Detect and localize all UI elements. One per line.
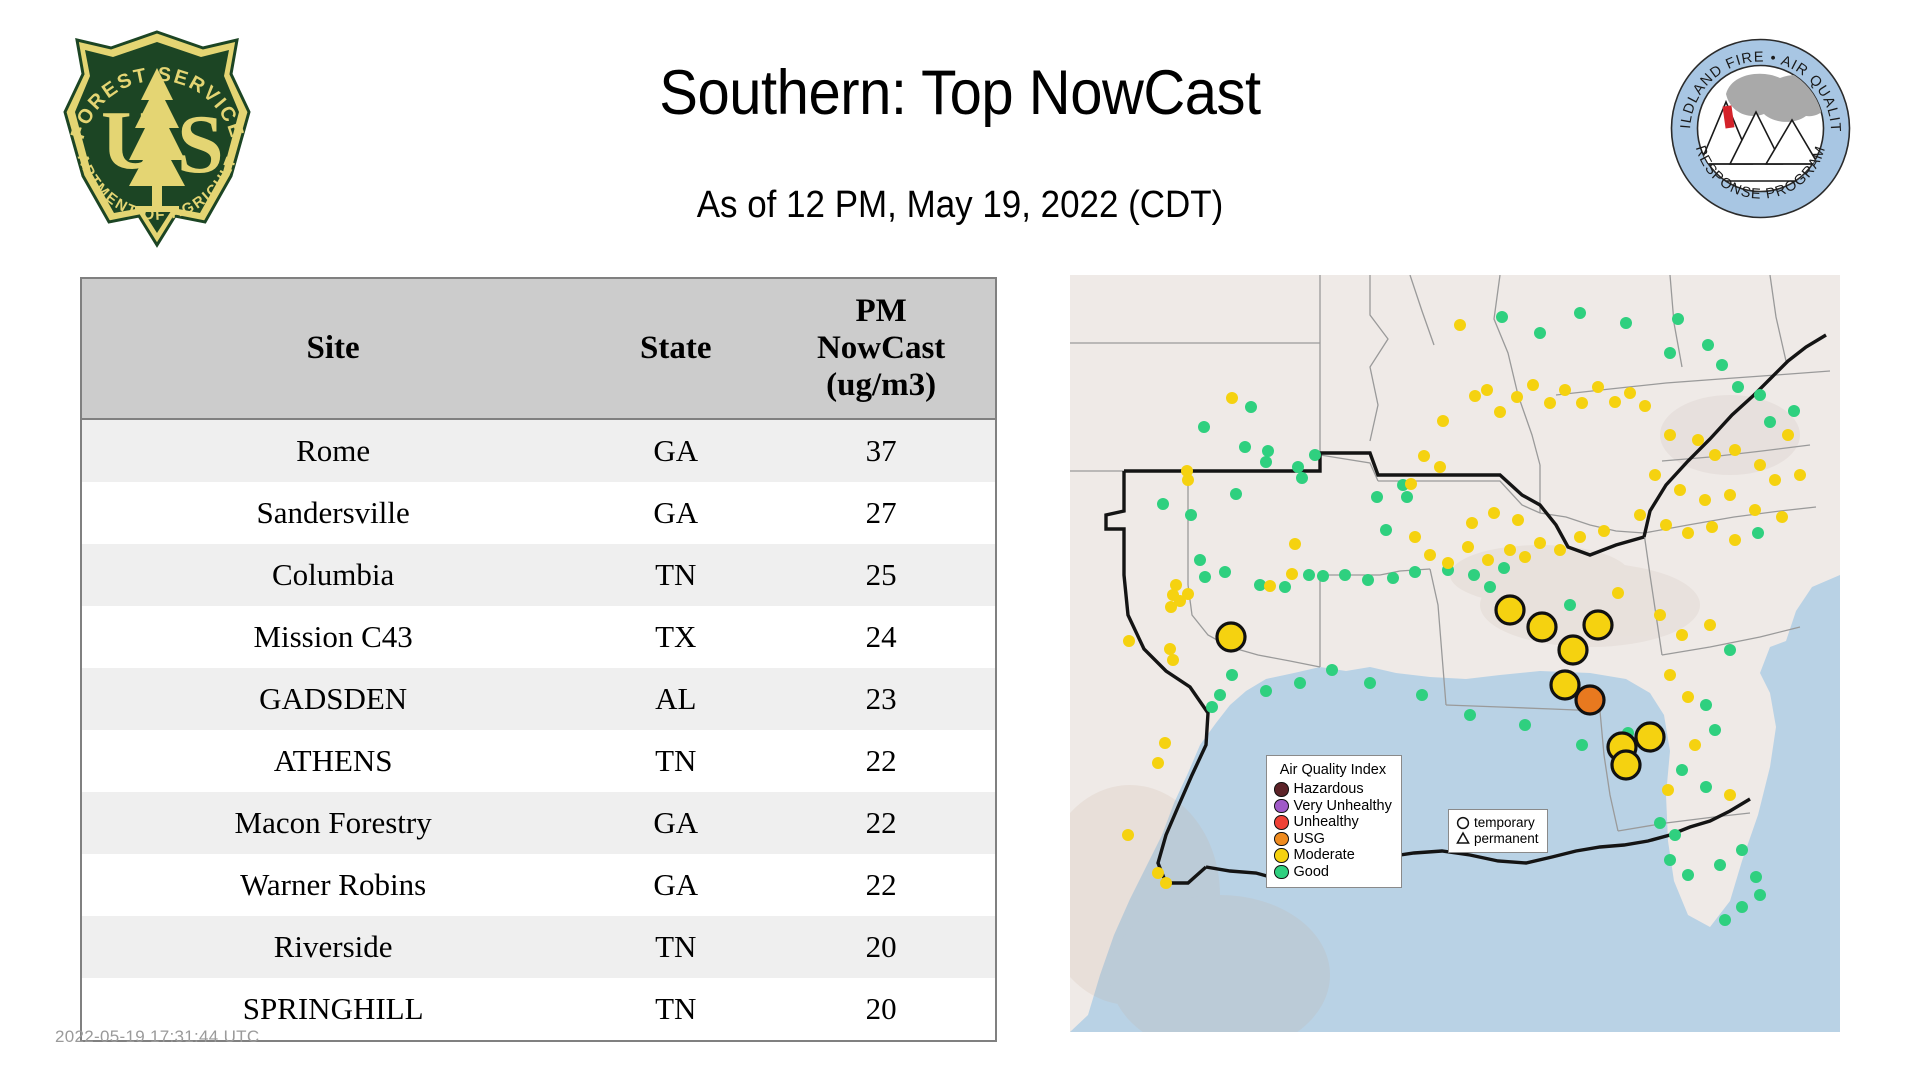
column-header-pm-nowcast: PM NowCast (ug/m3) bbox=[767, 278, 996, 419]
state-cell: TN bbox=[584, 544, 767, 606]
monitor-marker[interactable] bbox=[1716, 359, 1728, 371]
monitor-marker[interactable] bbox=[1512, 514, 1524, 526]
monitor-marker[interactable] bbox=[1160, 877, 1172, 889]
monitor-marker[interactable] bbox=[1660, 519, 1672, 531]
monitor-marker[interactable] bbox=[1682, 691, 1694, 703]
monitor-marker[interactable] bbox=[1724, 789, 1736, 801]
monitor-marker[interactable] bbox=[1634, 509, 1646, 521]
air-quality-map[interactable]: Air Quality Index HazardousVery Unhealth… bbox=[1070, 275, 1840, 1032]
monitor-marker[interactable] bbox=[1122, 829, 1134, 841]
pm-value-cell: 37 bbox=[767, 419, 996, 482]
monitor-marker[interactable] bbox=[1574, 531, 1586, 543]
monitor-marker[interactable] bbox=[1260, 685, 1272, 697]
table-header-row: Site State PM NowCast (ug/m3) bbox=[81, 278, 996, 419]
table-row: SandersvilleGA27 bbox=[81, 482, 996, 544]
table-row: RomeGA37 bbox=[81, 419, 996, 482]
monitor-marker[interactable] bbox=[1123, 635, 1135, 647]
monitor-marker[interactable] bbox=[1609, 396, 1621, 408]
monitor-marker[interactable] bbox=[1729, 534, 1741, 546]
monitor-marker[interactable] bbox=[1769, 474, 1781, 486]
monitor-marker[interactable] bbox=[1699, 494, 1711, 506]
monitor-marker[interactable] bbox=[1689, 739, 1701, 751]
permanent-triangle-icon bbox=[1455, 831, 1470, 845]
monitor-marker[interactable] bbox=[1245, 401, 1257, 413]
monitor-marker[interactable] bbox=[1164, 643, 1176, 655]
site-legend-label-temporary: temporary bbox=[1474, 816, 1535, 830]
monitor-marker[interactable] bbox=[1574, 307, 1586, 319]
aqi-color-swatch bbox=[1274, 865, 1289, 880]
aqi-legend-label: Unhealthy bbox=[1294, 815, 1359, 830]
pm-value-cell: 20 bbox=[767, 916, 996, 978]
monitor-marker[interactable] bbox=[1754, 389, 1766, 401]
monitor-marker[interactable] bbox=[1364, 677, 1376, 689]
monitor-marker[interactable] bbox=[1724, 489, 1736, 501]
monitor-marker[interactable] bbox=[1664, 347, 1676, 359]
monitor-marker[interactable] bbox=[1226, 392, 1238, 404]
temporary-circle-icon bbox=[1455, 816, 1470, 830]
monitor-marker[interactable] bbox=[1294, 677, 1306, 689]
pm-value-cell: 22 bbox=[767, 854, 996, 916]
monitor-marker[interactable] bbox=[1754, 459, 1766, 471]
monitor-marker[interactable] bbox=[1709, 724, 1721, 736]
monitor-marker[interactable] bbox=[1434, 461, 1446, 473]
table-body: RomeGA37SandersvilleGA27ColumbiaTN25Miss… bbox=[81, 419, 996, 1041]
monitor-marker[interactable] bbox=[1576, 397, 1588, 409]
monitor-marker[interactable] bbox=[1214, 689, 1226, 701]
monitor-marker[interactable] bbox=[1303, 569, 1315, 581]
table-row: ATHENSTN22 bbox=[81, 730, 996, 792]
aqi-color-swatch bbox=[1274, 799, 1289, 814]
pm-header-line2: NowCast bbox=[817, 330, 945, 366]
site-cell: Warner Robins bbox=[81, 854, 584, 916]
monitor-marker[interactable] bbox=[1676, 629, 1688, 641]
monitor-marker[interactable] bbox=[1749, 504, 1761, 516]
monitor-marker[interactable] bbox=[1387, 572, 1399, 584]
monitor-marker[interactable] bbox=[1292, 461, 1304, 473]
monitor-marker[interactable] bbox=[1776, 511, 1788, 523]
aqi-legend-row: Good bbox=[1274, 864, 1392, 881]
monitor-marker[interactable] bbox=[1519, 719, 1531, 731]
aqi-legend-items: HazardousVery UnhealthyUnhealthyUSGModer… bbox=[1274, 781, 1392, 880]
monitor-marker[interactable] bbox=[1466, 517, 1478, 529]
aqi-legend-title: Air Quality Index bbox=[1274, 762, 1392, 778]
monitor-marker[interactable] bbox=[1692, 434, 1704, 446]
top-site-marker[interactable] bbox=[1559, 636, 1587, 664]
monitor-marker[interactable] bbox=[1704, 619, 1716, 631]
aqi-legend-label: Moderate bbox=[1294, 848, 1355, 863]
monitor-marker[interactable] bbox=[1782, 429, 1794, 441]
monitor-marker[interactable] bbox=[1719, 914, 1731, 926]
monitor-marker[interactable] bbox=[1706, 521, 1718, 533]
page-title: Southern: Top NowCast bbox=[77, 62, 1843, 125]
monitor-marker[interactable] bbox=[1296, 472, 1308, 484]
site-cell: Riverside bbox=[81, 916, 584, 978]
monitor-marker[interactable] bbox=[1262, 445, 1274, 457]
site-cell: Sandersville bbox=[81, 482, 584, 544]
monitor-marker[interactable] bbox=[1468, 569, 1480, 581]
table-row: RiversideTN20 bbox=[81, 916, 996, 978]
pm-value-cell: 23 bbox=[767, 668, 996, 730]
monitor-marker[interactable] bbox=[1424, 549, 1436, 561]
monitor-marker[interactable] bbox=[1702, 339, 1714, 351]
top-site-marker[interactable] bbox=[1496, 596, 1524, 624]
monitor-marker[interactable] bbox=[1380, 524, 1392, 536]
monitor-marker[interactable] bbox=[1442, 557, 1454, 569]
monitor-marker[interactable] bbox=[1534, 327, 1546, 339]
monitor-marker[interactable] bbox=[1674, 484, 1686, 496]
monitor-marker[interactable] bbox=[1700, 781, 1712, 793]
monitor-marker[interactable] bbox=[1519, 551, 1531, 563]
table-row: GADSDENAL23 bbox=[81, 668, 996, 730]
aqi-legend-label: Very Unhealthy bbox=[1294, 799, 1392, 814]
monitor-marker[interactable] bbox=[1437, 415, 1449, 427]
monitor-marker[interactable] bbox=[1409, 566, 1421, 578]
pm-value-cell: 20 bbox=[767, 978, 996, 1041]
state-cell: AL bbox=[584, 668, 767, 730]
table-row: ColumbiaTN25 bbox=[81, 544, 996, 606]
pm-value-cell: 25 bbox=[767, 544, 996, 606]
monitor-marker[interactable] bbox=[1152, 757, 1164, 769]
monitor-marker[interactable] bbox=[1669, 829, 1681, 841]
monitor-marker[interactable] bbox=[1700, 699, 1712, 711]
monitor-marker[interactable] bbox=[1469, 390, 1481, 402]
monitor-marker[interactable] bbox=[1401, 491, 1413, 503]
state-cell: GA bbox=[584, 419, 767, 482]
monitor-marker[interactable] bbox=[1498, 562, 1510, 574]
site-legend-row-temporary: temporary bbox=[1455, 815, 1539, 831]
site-cell: Columbia bbox=[81, 544, 584, 606]
monitor-marker[interactable] bbox=[1226, 669, 1238, 681]
aqi-legend-label: Good bbox=[1294, 865, 1329, 880]
monitor-marker[interactable] bbox=[1672, 313, 1684, 325]
monitor-marker[interactable] bbox=[1418, 450, 1430, 462]
aqi-color-swatch bbox=[1274, 782, 1289, 797]
monitor-marker[interactable] bbox=[1260, 456, 1272, 468]
monitor-marker[interactable] bbox=[1339, 569, 1351, 581]
monitor-marker[interactable] bbox=[1682, 527, 1694, 539]
monitor-marker[interactable] bbox=[1764, 416, 1776, 428]
site-type-legend: temporary permanent bbox=[1448, 809, 1548, 853]
state-cell: GA bbox=[584, 854, 767, 916]
monitor-marker[interactable] bbox=[1206, 701, 1218, 713]
table-row: Macon ForestryGA22 bbox=[81, 792, 996, 854]
monitor-marker[interactable] bbox=[1592, 381, 1604, 393]
monitor-marker[interactable] bbox=[1676, 764, 1688, 776]
monitor-marker[interactable] bbox=[1511, 391, 1523, 403]
monitor-marker[interactable] bbox=[1309, 449, 1321, 461]
monitor-marker[interactable] bbox=[1157, 498, 1169, 510]
site-cell: ATHENS bbox=[81, 730, 584, 792]
monitor-marker[interactable] bbox=[1286, 568, 1298, 580]
monitor-marker[interactable] bbox=[1496, 311, 1508, 323]
pm-value-cell: 24 bbox=[767, 606, 996, 668]
monitor-marker[interactable] bbox=[1752, 527, 1764, 539]
top-site-marker[interactable] bbox=[1612, 751, 1640, 779]
monitor-marker[interactable] bbox=[1464, 709, 1476, 721]
monitor-marker[interactable] bbox=[1682, 869, 1694, 881]
page-subtitle: As of 12 PM, May 19, 2022 (CDT) bbox=[77, 186, 1843, 224]
aqi-color-swatch bbox=[1274, 848, 1289, 863]
state-cell: TN bbox=[584, 978, 767, 1041]
column-header-state: State bbox=[584, 278, 767, 419]
top-site-marker[interactable] bbox=[1576, 686, 1604, 714]
monitor-marker[interactable] bbox=[1194, 554, 1206, 566]
state-cell: TN bbox=[584, 730, 767, 792]
monitor-marker[interactable] bbox=[1264, 580, 1276, 592]
monitor-marker[interactable] bbox=[1639, 400, 1651, 412]
monitor-marker[interactable] bbox=[1239, 441, 1251, 453]
monitor-marker[interactable] bbox=[1167, 654, 1179, 666]
monitor-marker[interactable] bbox=[1724, 644, 1736, 656]
monitor-marker[interactable] bbox=[1754, 889, 1766, 901]
monitor-marker[interactable] bbox=[1462, 541, 1474, 553]
monitor-marker[interactable] bbox=[1788, 405, 1800, 417]
monitor-marker[interactable] bbox=[1534, 537, 1546, 549]
aqi-color-swatch bbox=[1274, 815, 1289, 830]
site-cell: Rome bbox=[81, 419, 584, 482]
monitor-marker[interactable] bbox=[1182, 588, 1194, 600]
monitor-marker[interactable] bbox=[1654, 609, 1666, 621]
aqi-legend-row: Unhealthy bbox=[1274, 814, 1392, 831]
state-cell: TN bbox=[584, 916, 767, 978]
aqi-legend-row: USG bbox=[1274, 831, 1392, 848]
table-row: Mission C43TX24 bbox=[81, 606, 996, 668]
monitor-marker[interactable] bbox=[1362, 574, 1374, 586]
monitor-marker[interactable] bbox=[1729, 444, 1741, 456]
aqi-legend: Air Quality Index HazardousVery Unhealth… bbox=[1266, 755, 1402, 888]
monitor-marker[interactable] bbox=[1317, 570, 1329, 582]
generation-timestamp: 2022-05-19 17:31:44 UTC bbox=[55, 1027, 259, 1047]
monitor-marker[interactable] bbox=[1654, 817, 1666, 829]
monitor-marker[interactable] bbox=[1279, 581, 1291, 593]
monitor-marker[interactable] bbox=[1649, 469, 1661, 481]
monitor-marker[interactable] bbox=[1371, 491, 1383, 503]
monitor-marker[interactable] bbox=[1159, 737, 1171, 749]
site-legend-row-permanent: permanent bbox=[1455, 831, 1539, 847]
monitor-marker[interactable] bbox=[1598, 525, 1610, 537]
monitor-marker[interactable] bbox=[1750, 871, 1762, 883]
column-header-site: Site bbox=[81, 278, 584, 419]
aqi-legend-label: Hazardous bbox=[1294, 782, 1364, 797]
monitor-marker[interactable] bbox=[1527, 379, 1539, 391]
monitor-marker[interactable] bbox=[1416, 689, 1428, 701]
state-cell: GA bbox=[584, 482, 767, 544]
monitor-marker[interactable] bbox=[1165, 601, 1177, 613]
aqi-legend-row: Hazardous bbox=[1274, 781, 1392, 798]
state-cell: GA bbox=[584, 792, 767, 854]
monitor-marker[interactable] bbox=[1454, 319, 1466, 331]
monitor-marker[interactable] bbox=[1230, 488, 1242, 500]
monitor-marker[interactable] bbox=[1199, 571, 1211, 583]
monitor-marker[interactable] bbox=[1409, 531, 1421, 543]
monitor-marker[interactable] bbox=[1219, 566, 1231, 578]
pm-value-cell: 27 bbox=[767, 482, 996, 544]
top-site-marker[interactable] bbox=[1636, 723, 1664, 751]
monitor-marker[interactable] bbox=[1484, 581, 1496, 593]
monitor-marker[interactable] bbox=[1488, 507, 1500, 519]
monitor-marker[interactable] bbox=[1198, 421, 1210, 433]
top-site-marker[interactable] bbox=[1217, 623, 1245, 651]
monitor-marker[interactable] bbox=[1289, 538, 1301, 550]
monitor-marker[interactable] bbox=[1564, 599, 1576, 611]
monitor-marker[interactable] bbox=[1494, 406, 1506, 418]
map-canvas bbox=[1070, 275, 1840, 1032]
monitor-marker[interactable] bbox=[1554, 544, 1566, 556]
state-cell: TX bbox=[584, 606, 767, 668]
monitor-marker[interactable] bbox=[1664, 429, 1676, 441]
monitor-marker[interactable] bbox=[1482, 554, 1494, 566]
monitor-marker[interactable] bbox=[1504, 544, 1516, 556]
monitor-marker[interactable] bbox=[1620, 317, 1632, 329]
pm-value-cell: 22 bbox=[767, 730, 996, 792]
pm-header-line3: (ug/m3) bbox=[826, 367, 936, 403]
pm-value-cell: 22 bbox=[767, 792, 996, 854]
aqi-legend-row: Moderate bbox=[1274, 847, 1392, 864]
aqi-color-swatch bbox=[1274, 832, 1289, 847]
monitor-marker[interactable] bbox=[1612, 587, 1624, 599]
monitor-marker[interactable] bbox=[1182, 474, 1194, 486]
monitor-marker[interactable] bbox=[1709, 449, 1721, 461]
top-site-marker[interactable] bbox=[1584, 611, 1612, 639]
top-site-marker[interactable] bbox=[1528, 613, 1556, 641]
monitor-marker[interactable] bbox=[1732, 381, 1744, 393]
monitor-marker[interactable] bbox=[1662, 784, 1674, 796]
monitor-marker[interactable] bbox=[1326, 664, 1338, 676]
pm-header-line1: PM bbox=[855, 293, 906, 329]
site-cell: Macon Forestry bbox=[81, 792, 584, 854]
monitor-marker[interactable] bbox=[1624, 387, 1636, 399]
monitor-marker[interactable] bbox=[1794, 469, 1806, 481]
monitor-marker[interactable] bbox=[1185, 509, 1197, 521]
monitor-marker[interactable] bbox=[1736, 901, 1748, 913]
monitor-marker[interactable] bbox=[1481, 384, 1493, 396]
site-cell: Mission C43 bbox=[81, 606, 584, 668]
monitor-marker[interactable] bbox=[1576, 739, 1588, 751]
site-legend-label-permanent: permanent bbox=[1474, 832, 1539, 846]
top-site-marker[interactable] bbox=[1551, 671, 1579, 699]
monitor-marker[interactable] bbox=[1664, 669, 1676, 681]
monitor-marker[interactable] bbox=[1664, 854, 1676, 866]
monitor-marker[interactable] bbox=[1152, 867, 1164, 879]
monitor-marker[interactable] bbox=[1544, 397, 1556, 409]
site-cell: GADSDEN bbox=[81, 668, 584, 730]
monitor-marker[interactable] bbox=[1736, 844, 1748, 856]
monitor-marker[interactable] bbox=[1405, 478, 1417, 490]
monitor-marker[interactable] bbox=[1714, 859, 1726, 871]
aqi-legend-row: Very Unhealthy bbox=[1274, 798, 1392, 815]
top-nowcast-table: Site State PM NowCast (ug/m3) RomeGA37Sa… bbox=[80, 277, 997, 1042]
table-row: Warner RobinsGA22 bbox=[81, 854, 996, 916]
monitor-marker[interactable] bbox=[1559, 384, 1571, 396]
aqi-legend-label: USG bbox=[1294, 832, 1325, 847]
